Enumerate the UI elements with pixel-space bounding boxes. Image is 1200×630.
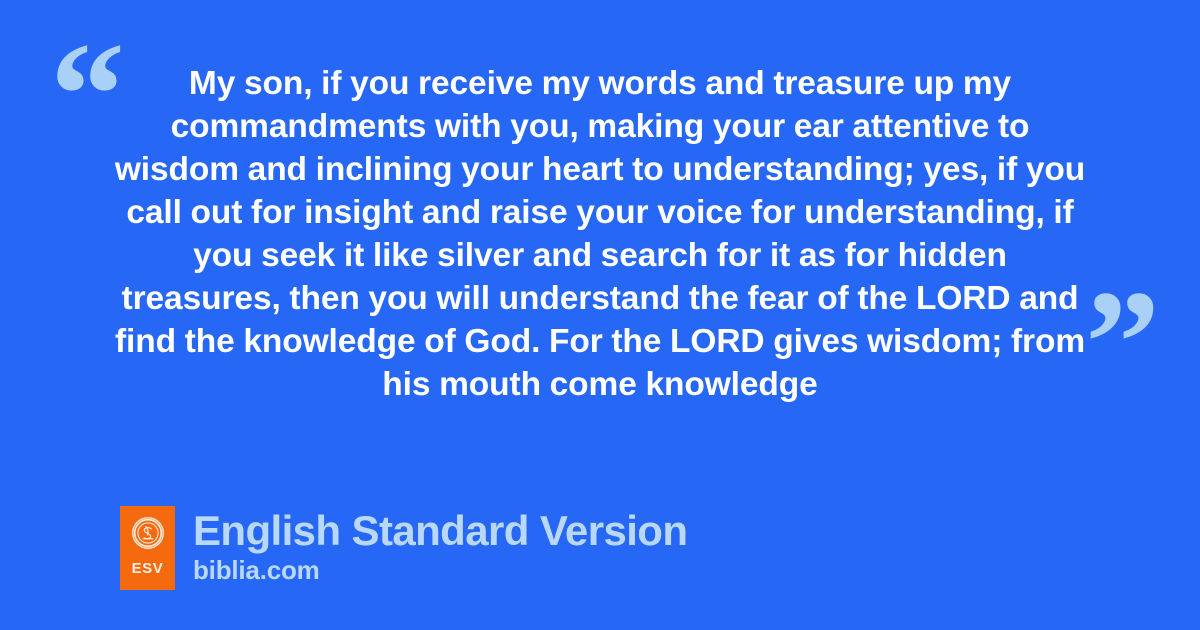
esv-seal-icon	[131, 516, 165, 550]
wordmark: English Standard Version biblia.com	[193, 506, 687, 585]
verse-text: My son, if you receive my words and trea…	[110, 62, 1090, 406]
bible-verse-card: “ My son, if you receive my words and tr…	[0, 0, 1200, 630]
site-url-label: biblia.com	[193, 555, 687, 585]
closing-quote-icon: ”	[1085, 268, 1158, 418]
esv-logo-tile: ESV	[120, 506, 175, 590]
bible-version-title: English Standard Version	[193, 508, 687, 554]
attribution-footer: ESV English Standard Version biblia.com	[120, 506, 687, 590]
quote-block: My son, if you receive my words and trea…	[110, 62, 1090, 406]
esv-abbreviation-label: ESV	[132, 561, 164, 576]
